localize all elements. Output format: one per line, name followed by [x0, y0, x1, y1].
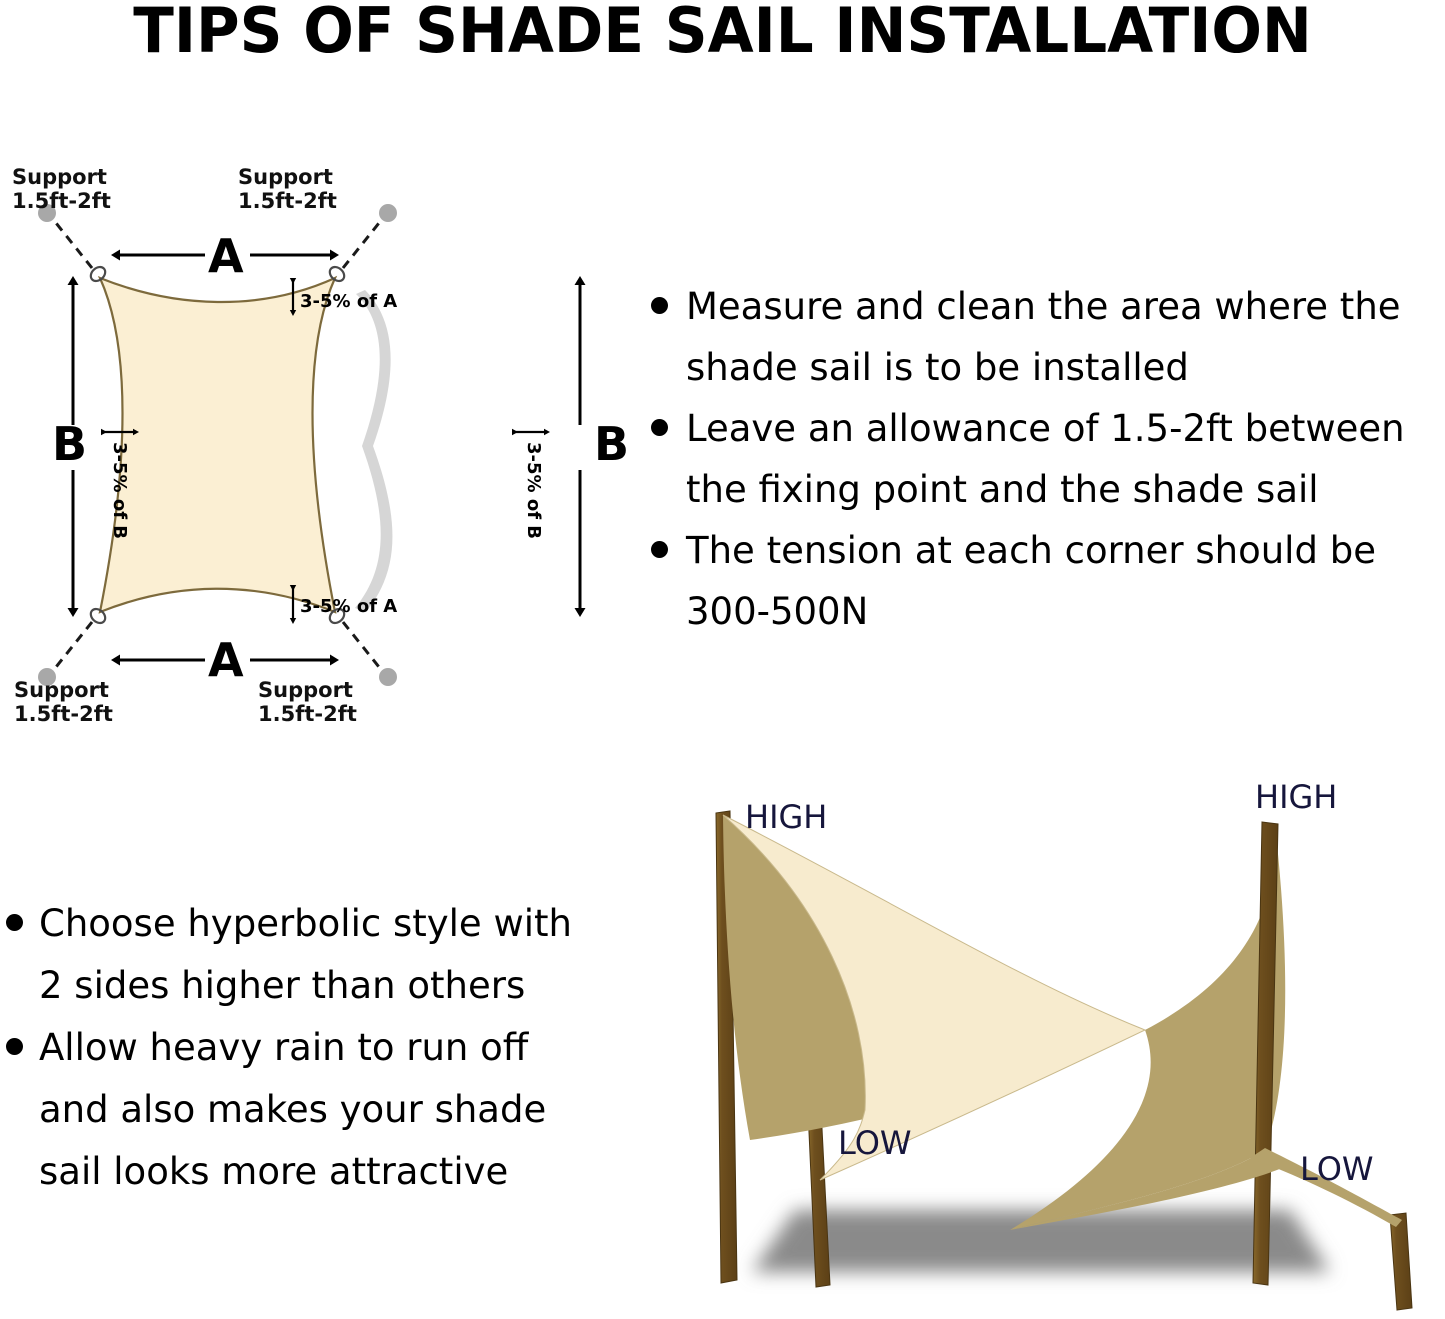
bullet-dot-icon: [651, 297, 668, 314]
tip-text: Leave an allowance of 1.5-2ft between th…: [686, 398, 1405, 520]
support-label-line2: 1.5ft-2ft: [238, 189, 337, 213]
support-label-line2: 1.5ft-2ft: [12, 189, 111, 213]
infographic-page: TIPS OF SHADE SAIL INSTALLATION: [0, 0, 1445, 1319]
dimension-label-b-left: B: [52, 417, 87, 471]
support-label-bottom-left: Support 1.5ft-2ft: [14, 678, 113, 726]
list-item: Choose hyperbolic style with 2 sides hig…: [6, 893, 626, 1017]
bullet-dot-icon: [651, 541, 668, 558]
post-4-low: [1390, 1213, 1412, 1310]
support-label-top-right: Support 1.5ft-2ft: [238, 165, 337, 213]
support-label-line1: Support: [238, 165, 333, 189]
post-label-high-right: HIGH: [1255, 780, 1337, 816]
dimension-label-a-bottom: A: [208, 633, 244, 687]
list-item: Leave an allowance of 1.5-2ft between th…: [651, 398, 1445, 520]
tip-text: Allow heavy rain to run off and also mak…: [39, 1017, 546, 1203]
support-label-bottom-right: Support 1.5ft-2ft: [258, 678, 357, 726]
curvature-callout-top: 3-5% of A: [293, 278, 397, 312]
curvature-label-top: 3-5% of A: [300, 291, 397, 312]
hyperbolic-sail-diagram: HIGH LOW HIGH LOW: [690, 780, 1445, 1319]
list-item: Allow heavy rain to run off and also mak…: [6, 1017, 626, 1203]
shade-sail-fabric: [100, 278, 335, 612]
post-label-low-right: LOW: [1300, 1150, 1374, 1188]
post-label-high-left: HIGH: [745, 798, 827, 836]
curvature-label-bottom: 3-5% of A: [300, 596, 397, 617]
sail-shadow: [355, 290, 392, 612]
dimension-label-b-right: B: [594, 417, 629, 471]
curvature-callout-right: 3-5% of B: [512, 432, 544, 539]
curvature-callout-left: 3-5% of B: [101, 432, 133, 539]
list-item: Measure and clean the area where the sha…: [651, 276, 1445, 398]
tip-text: The tension at each corner should be 300…: [686, 520, 1376, 642]
support-label-line2: 1.5ft-2ft: [14, 702, 113, 726]
bullet-dot-icon: [6, 1038, 23, 1055]
bullet-dot-icon: [651, 419, 668, 436]
rectangular-sail-diagram: Support 1.5ft-2ft Support 1.5ft-2ft Supp…: [0, 160, 660, 730]
curvature-label-left: 3-5% of B: [109, 442, 130, 539]
post-label-low-left: LOW: [838, 1124, 912, 1162]
support-label-line2: 1.5ft-2ft: [258, 702, 357, 726]
support-label-line1: Support: [12, 165, 107, 189]
dimension-label-a-top: A: [208, 229, 244, 283]
support-label-line1: Support: [14, 678, 109, 702]
tip-text: Measure and clean the area where the sha…: [686, 276, 1401, 398]
tips-list-top: Measure and clean the area where the sha…: [651, 276, 1445, 642]
tip-text: Choose hyperbolic style with 2 sides hig…: [39, 893, 572, 1017]
bullet-dot-icon: [6, 914, 23, 931]
curvature-label-right: 3-5% of B: [523, 442, 544, 539]
page-title: TIPS OF SHADE SAIL INSTALLATION: [29, 0, 1416, 67]
support-label-top-left: Support 1.5ft-2ft: [12, 165, 111, 213]
list-item: The tension at each corner should be 300…: [651, 520, 1445, 642]
support-label-line1: Support: [258, 678, 353, 702]
tips-list-bottom: Choose hyperbolic style with 2 sides hig…: [6, 893, 626, 1203]
